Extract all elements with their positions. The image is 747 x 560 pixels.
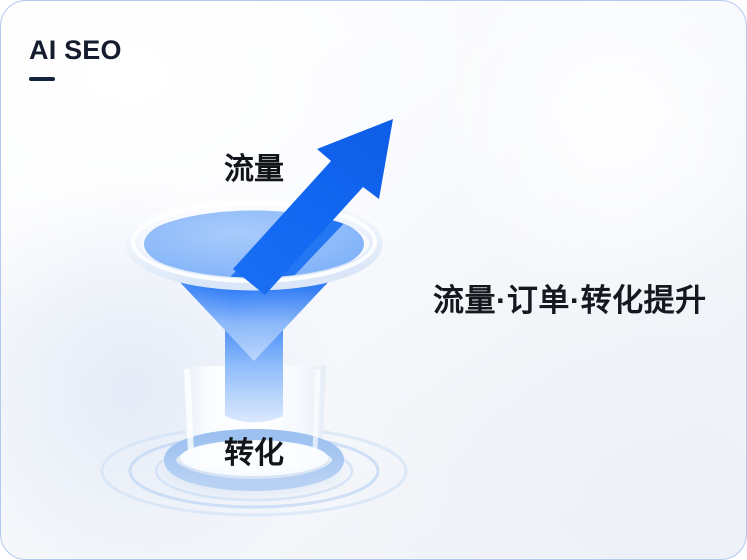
title-underline-rule (29, 77, 55, 81)
page-title: AI SEO (29, 37, 122, 64)
cup-highlight-left (187, 369, 191, 453)
cup-highlight-right (315, 369, 318, 453)
tagline-text: 流量·订单·转化提升 (433, 275, 707, 320)
heading-block: AI SEO (29, 37, 122, 81)
label-traffic: 流量 (224, 153, 284, 186)
label-conversion: 转化 (224, 437, 284, 470)
seo-funnel-card: AI SEO 流量·订单·转化提升 (0, 0, 747, 560)
